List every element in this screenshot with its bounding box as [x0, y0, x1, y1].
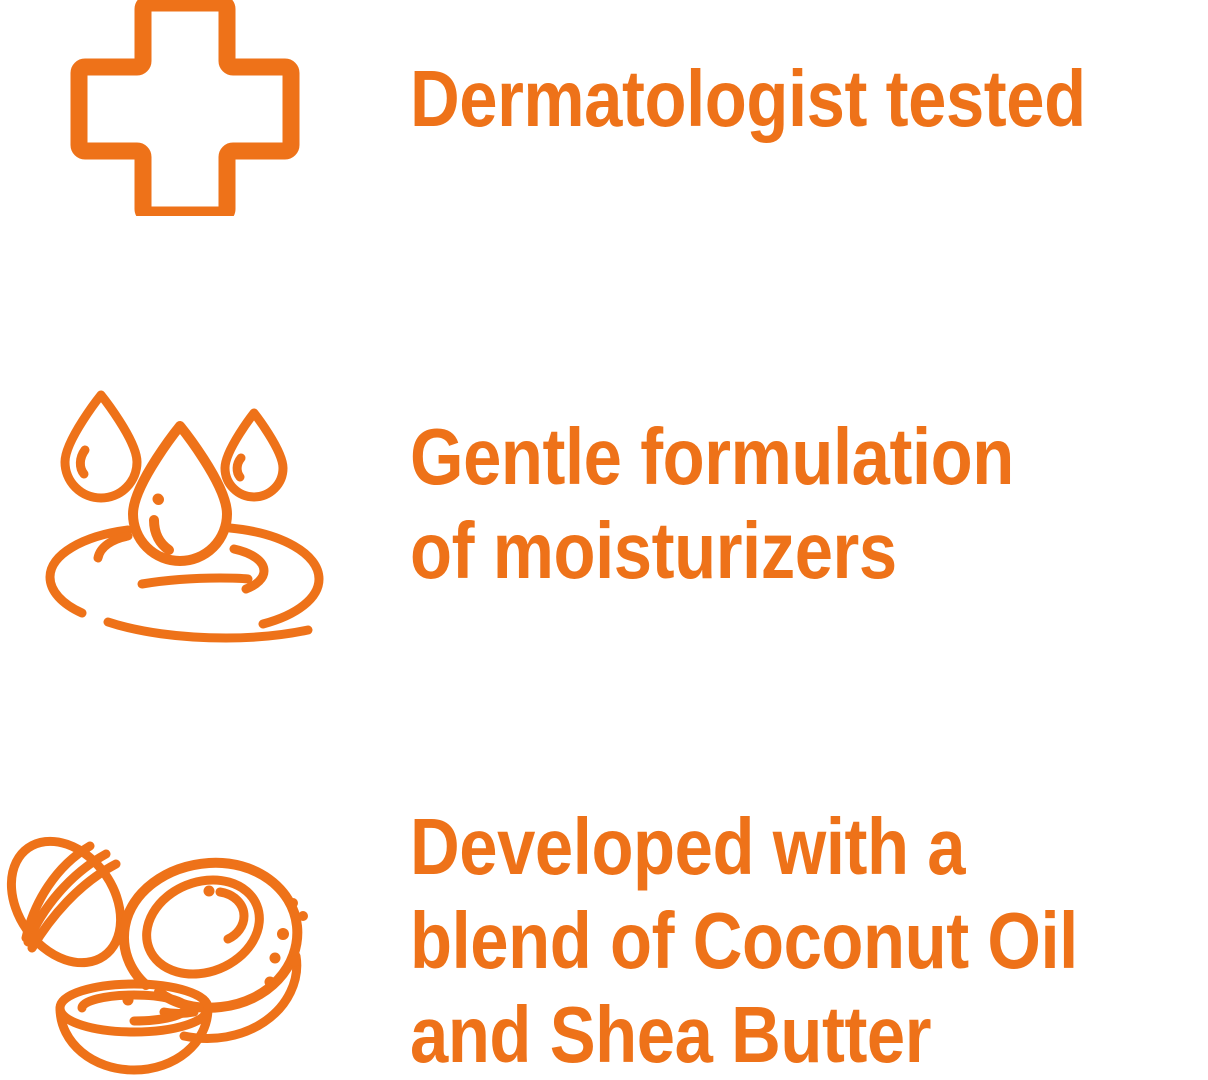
water-droplets-icon — [38, 378, 338, 663]
feature-row-coconut-shea: Developed with a blend of Coconut Oil an… — [0, 750, 1208, 1080]
feature-label-dermatologist: Dermatologist tested — [410, 52, 1086, 146]
medical-cross-icon — [70, 0, 300, 221]
feature-row-gentle-formulation: Gentle formulation of moisturizers — [0, 330, 1208, 750]
coconut-shea-icon — [0, 830, 348, 1080]
feature-row-dermatologist: Dermatologist tested — [0, 0, 1208, 330]
feature-label-gentle-formulation: Gentle formulation of moisturizers — [410, 410, 1014, 598]
benefits-panel: Dermatologist tested — [0, 0, 1208, 1080]
feature-label-coconut-shea: Developed with a blend of Coconut Oil an… — [410, 800, 1078, 1080]
